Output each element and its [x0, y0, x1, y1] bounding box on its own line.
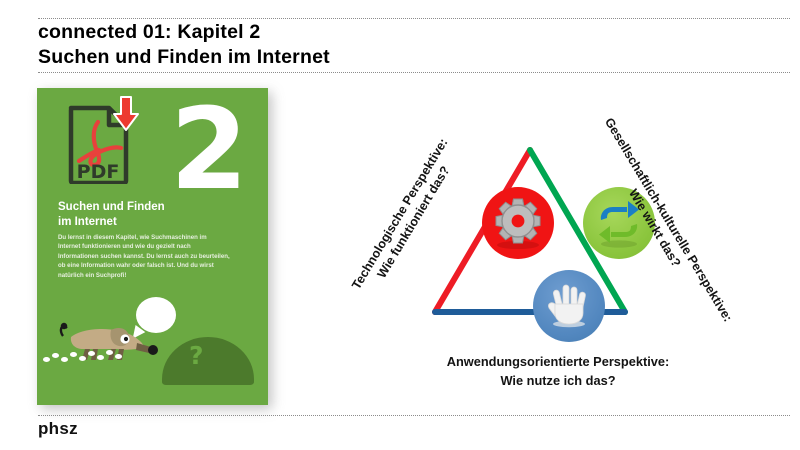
paw-tracks — [43, 341, 123, 363]
card-title-line2: im Internet — [58, 215, 228, 230]
page-title: connected 01: Kapitel 2 Suchen und Finde… — [38, 20, 638, 70]
divider-top — [38, 18, 790, 19]
pdf-label-text: PDF — [77, 161, 120, 183]
divider-footer — [38, 415, 790, 416]
download-arrow-icon — [112, 96, 140, 132]
label-application-line2: Wie nutze ich das? — [368, 371, 748, 390]
node-application[interactable] — [533, 270, 605, 342]
pdf-chapter-card[interactable]: PDF 2 Suchen und Finden im Internet Du l… — [37, 88, 268, 405]
gear-icon — [482, 187, 554, 259]
chapter-number: 2 — [170, 94, 246, 206]
card-title-line1: Suchen und Finden — [58, 200, 228, 215]
slide-canvas: connected 01: Kapitel 2 Suchen und Finde… — [0, 0, 800, 450]
card-title: Suchen und Finden im Internet — [58, 200, 228, 230]
page-title-line1: connected 01: Kapitel 2 — [38, 20, 638, 45]
card-surface: PDF 2 Suchen und Finden im Internet Du l… — [37, 88, 268, 405]
node-technological[interactable] — [482, 187, 554, 259]
open-hand-icon — [533, 270, 605, 342]
footer-logo: phsz — [38, 419, 78, 439]
page-title-line2: Suchen und Finden im Internet — [38, 45, 638, 70]
illustration-dog-scene: ? — [37, 295, 268, 405]
label-application-perspective: Anwendungsorientierte Perspektive: Wie n… — [368, 352, 748, 390]
perspectives-triangle-diagram: Technologische Perspektive: Wie funktion… — [330, 80, 790, 410]
divider-under-title — [38, 72, 790, 73]
card-description: Du lernst in diesem Kapitel, wie Suchmas… — [58, 233, 230, 280]
label-application-line1: Anwendungsorientierte Perspektive: — [368, 352, 748, 371]
